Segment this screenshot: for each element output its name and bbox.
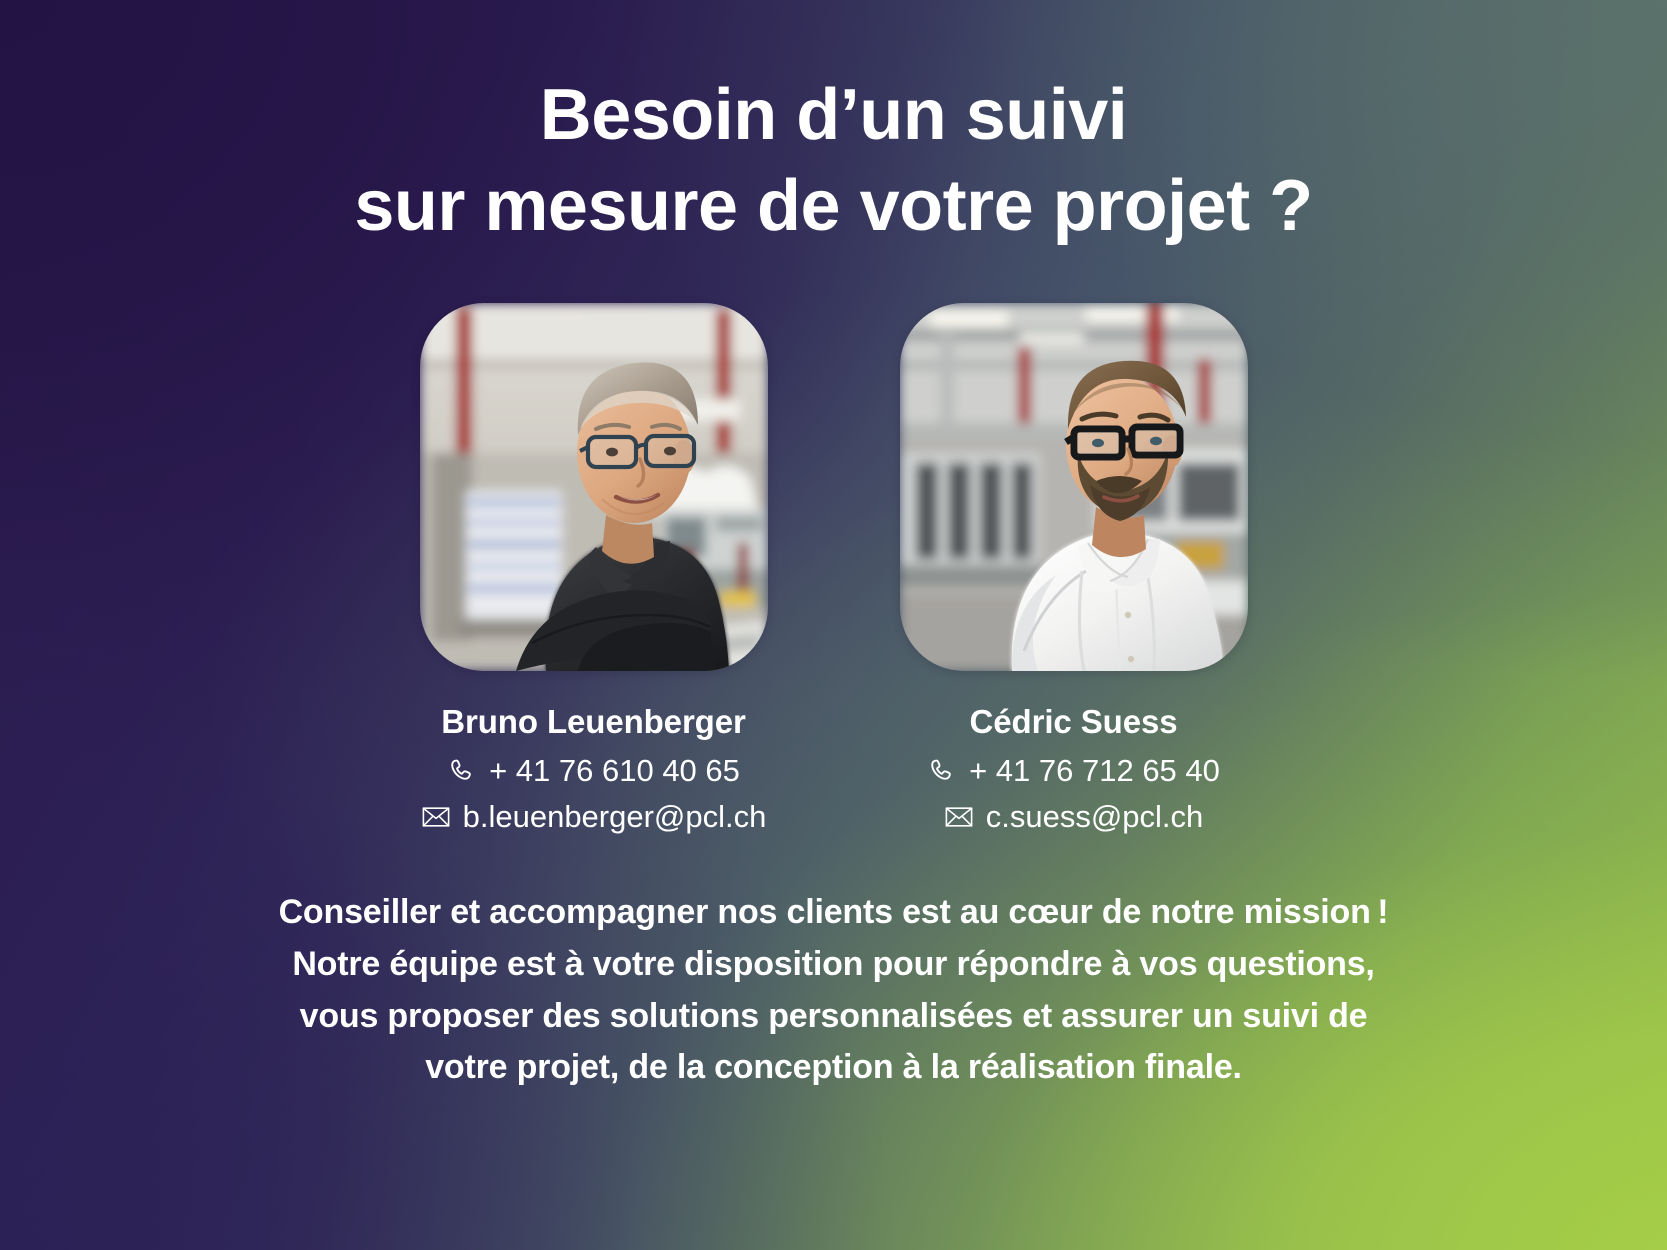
- contact-card-bruno-leuenberger: Bruno Leuenberger + 41 76 610 40 65: [414, 303, 774, 835]
- mission-line-3: vous proposer des solutions personnalisé…: [184, 991, 1484, 1043]
- contact-card-cedric-suess: Cédric Suess + 41 76 712 65 40: [894, 303, 1254, 835]
- mission-line-1: Conseiller et accompagner nos clients es…: [184, 887, 1484, 939]
- contact-phone-value: + 41 76 712 65 40: [969, 753, 1220, 789]
- phone-icon: [447, 756, 477, 786]
- envelope-icon: [944, 802, 974, 832]
- contact-name: Bruno Leuenberger: [441, 703, 746, 741]
- mission-line-2: Notre équipe est à votre disposition pou…: [184, 939, 1484, 991]
- slide-content: Besoin d’un suivi sur mesure de votre pr…: [0, 0, 1667, 1250]
- avatar-bruno-leuenberger: [420, 303, 768, 671]
- page-title-line-1: Besoin d’un suivi: [169, 70, 1499, 161]
- contact-email-value: b.leuenberger@pcl.ch: [463, 799, 767, 835]
- contact-email[interactable]: c.suess@pcl.ch: [944, 799, 1204, 835]
- page-title-line-2: sur mesure de votre projet ?: [169, 161, 1499, 252]
- avatar-cedric-suess: [900, 303, 1248, 671]
- contact-phone[interactable]: + 41 76 610 40 65: [447, 753, 740, 789]
- contact-email[interactable]: b.leuenberger@pcl.ch: [421, 799, 767, 835]
- contact-phone[interactable]: + 41 76 712 65 40: [927, 753, 1220, 789]
- contact-name: Cédric Suess: [970, 703, 1178, 741]
- phone-icon: [927, 756, 957, 786]
- envelope-icon: [421, 802, 451, 832]
- contact-phone-value: + 41 76 610 40 65: [489, 753, 740, 789]
- contact-card-slide: Besoin d’un suivi sur mesure de votre pr…: [0, 0, 1667, 1250]
- contacts-row: Bruno Leuenberger + 41 76 610 40 65: [414, 303, 1254, 835]
- mission-paragraph: Conseiller et accompagner nos clients es…: [184, 887, 1484, 1094]
- mission-line-4: votre projet, de la conception à la réal…: [184, 1042, 1484, 1094]
- page-title: Besoin d’un suivi sur mesure de votre pr…: [169, 70, 1499, 251]
- contact-email-value: c.suess@pcl.ch: [986, 799, 1204, 835]
